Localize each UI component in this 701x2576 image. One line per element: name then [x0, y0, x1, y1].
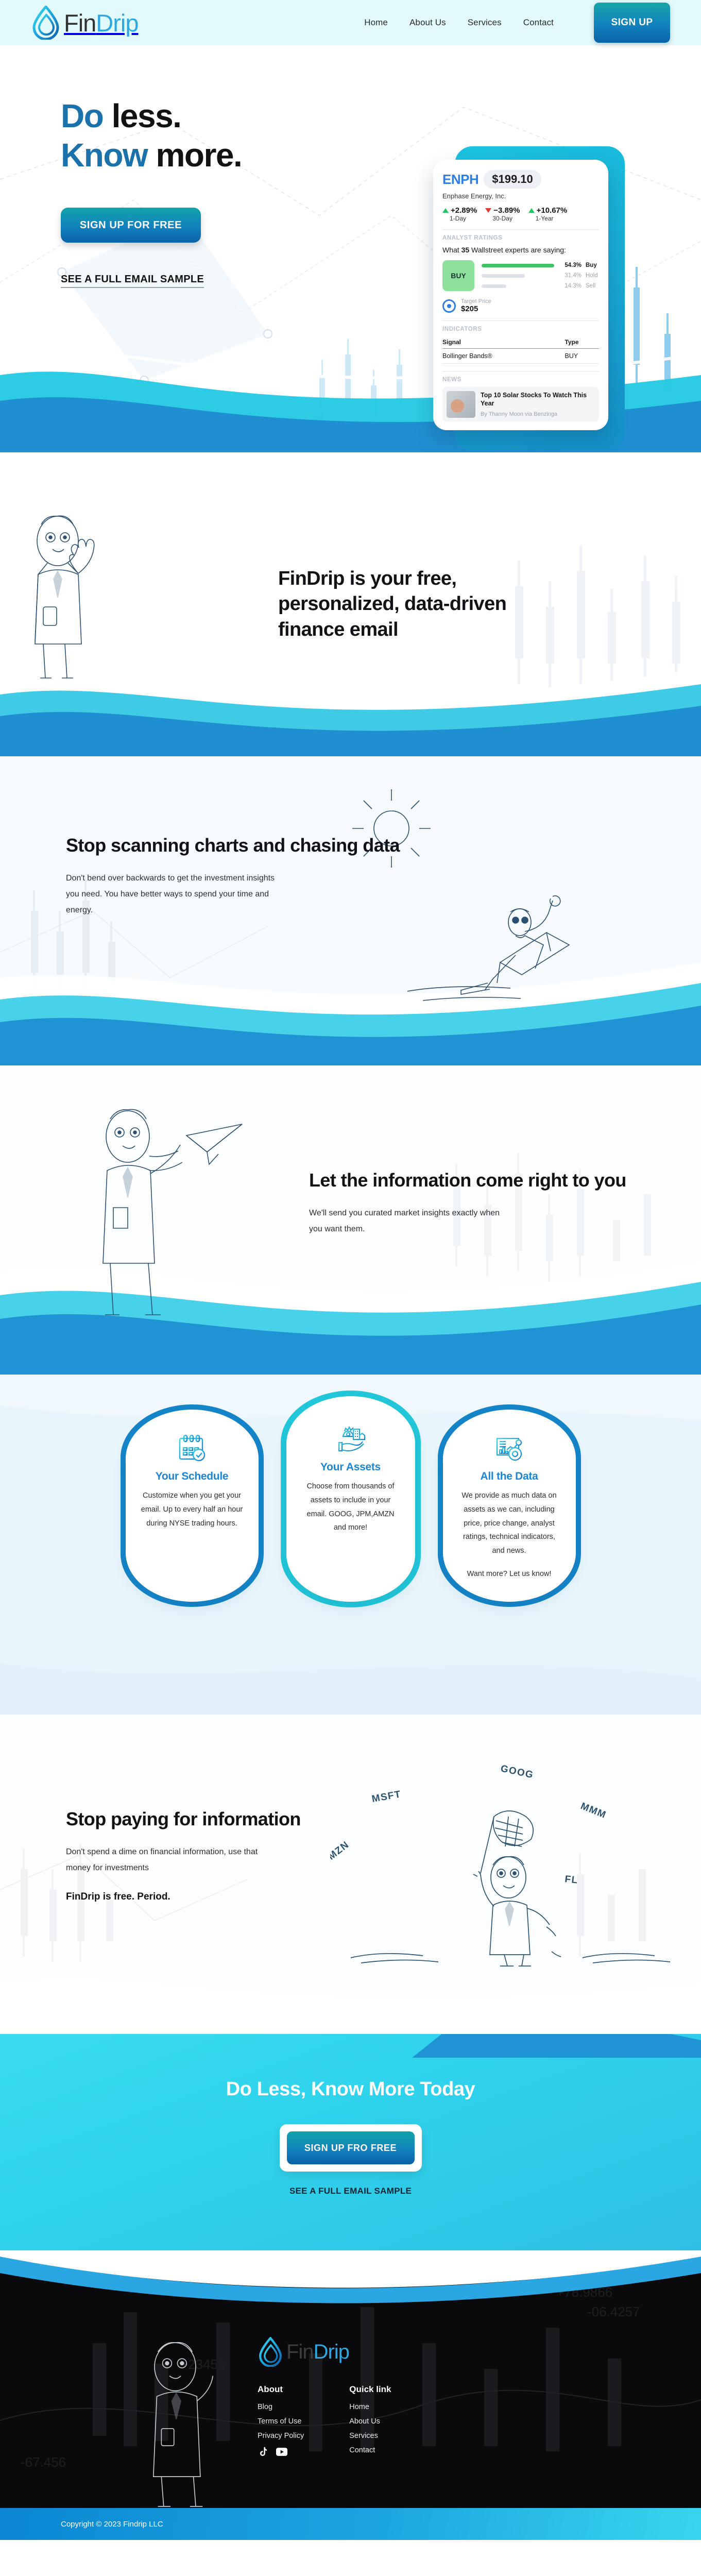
change-30-day: −3.89% 30-Day	[485, 206, 520, 222]
mascot-waving-illustration	[21, 509, 124, 679]
arrow-up-icon	[442, 208, 449, 213]
hero-title-line1-accent: Do	[61, 97, 103, 134]
analyst-count: 35	[461, 246, 470, 254]
footer-link-about-us[interactable]: About Us	[349, 2417, 391, 2426]
indicators-col-signal: Signal	[442, 336, 565, 349]
feature-card-title: Your Assets	[300, 1461, 402, 1473]
price-change-row: +2.89% 1-Day −3.89% 30-Day +10.67% 1-Yea…	[442, 206, 599, 222]
indicator-type: BUY	[565, 349, 599, 364]
footer-link-privacy-policy[interactable]: Privacy Policy	[258, 2432, 304, 2440]
hero-email-sample-link[interactable]: SEE A FULL EMAIL SAMPLE	[61, 274, 204, 288]
analyst-rating-body: BUY 54.3% Buy 31.4% Hold	[442, 260, 599, 291]
feature-card-your-schedule: Your Schedule Customize when you get you…	[126, 1410, 259, 1602]
footer-logo[interactable]: FinDrip	[258, 2337, 701, 2367]
mascot-footer-illustration	[134, 2337, 237, 2508]
consensus-badge: BUY	[442, 260, 474, 291]
logo-text-fin: Fin	[64, 9, 96, 37]
features-section: Your Schedule Customize when you get you…	[0, 1375, 701, 1715]
arrow-up-icon	[528, 208, 535, 213]
rating-bar-buy	[482, 264, 554, 267]
stock-detail-card: ENPH $199.10 Enphase Energy, Inc. +2.89%…	[433, 160, 608, 430]
rating-row-buy: 54.3% Buy	[482, 262, 599, 268]
indicator-signal: Bollinger Bands®	[442, 349, 565, 364]
hero-title-line2-dark: more.	[156, 137, 242, 174]
rating-pct-sell: 14.3%	[562, 283, 582, 289]
change-1-day-label: 1-Day	[450, 215, 477, 222]
rating-row-hold: 31.4% Hold	[482, 273, 599, 279]
indicators-col-type: Type	[565, 336, 599, 349]
company-name: Enphase Energy, Inc.	[442, 192, 599, 200]
table-row: Bollinger Bands® BUY	[442, 349, 599, 364]
footer-link-columns: About Blog Terms of Use Privacy Policy	[258, 2384, 701, 2461]
nav-item-about-us[interactable]: About Us	[409, 18, 446, 28]
change-1-year-value: +10.67%	[537, 206, 568, 215]
target-price-value: $205	[461, 304, 491, 313]
information-heading: Let the information come right to you	[309, 1168, 701, 1193]
change-1-day-value: +2.89%	[451, 206, 477, 215]
hero-title-line2-accent: Know	[61, 137, 147, 174]
feature-card-body-extra: Want more? Let us know!	[456, 1567, 562, 1581]
logo-home-link[interactable]: FinDrip	[31, 6, 138, 40]
indicators-heading: INDICATORS	[442, 326, 599, 332]
footer-column-quick-link: Quick link Home About Us Services Contac…	[349, 2384, 391, 2461]
hero-signup-button[interactable]: SIGN UP FOR FREE	[61, 208, 201, 243]
ticker-label-mmm: MMM	[579, 1801, 608, 1821]
nav-item-contact[interactable]: Contact	[523, 18, 554, 28]
nav-item-services[interactable]: Services	[468, 18, 502, 28]
information-content: Let the information come right to you We…	[0, 1065, 701, 1237]
change-1-day: +2.89% 1-Day	[442, 206, 477, 222]
rating-pct-buy: 54.3%	[562, 262, 582, 268]
copyright-text: Copyright © 2023 Findrip LLC	[61, 2520, 163, 2529]
main-navigation: Home About Us Services Contact SIGN UP	[364, 3, 670, 43]
rating-bar-hold	[482, 274, 525, 278]
mascot-net-catching-illustration: GOOG MSFT AMZN MMM FL	[330, 1725, 691, 1967]
site-footer: +78.9866-06.4257+23456-67.456	[0, 2250, 701, 2508]
hand-assets-icon	[300, 1424, 402, 1454]
divider	[442, 320, 599, 321]
ticker-label-msft: MSFT	[371, 1789, 402, 1805]
ticker-label-fl: FL	[564, 1874, 578, 1886]
hero-section: Do less. Know more. SIGN UP FOR FREE SEE…	[0, 45, 701, 452]
footer-column-heading: About	[258, 2384, 304, 2395]
dashboard-chart-icon	[456, 1433, 562, 1463]
footer-link-blog[interactable]: Blog	[258, 2403, 304, 2411]
information-section: Let the information come right to you We…	[0, 1065, 701, 1375]
tiktok-link[interactable]	[258, 2446, 269, 2458]
footer-link-terms-of-use[interactable]: Terms of Use	[258, 2417, 304, 2426]
ticker-label-goog: GOOG	[500, 1763, 535, 1781]
divider	[442, 229, 599, 230]
change-1-year: +10.67% 1-Year	[528, 206, 568, 222]
stop-paying-section: Stop paying for information Don't spend …	[0, 1715, 701, 2034]
rating-name-sell: Sell	[586, 283, 599, 289]
analyst-question-pre: What	[442, 246, 461, 254]
footer-link-home[interactable]: Home	[349, 2403, 391, 2411]
information-body: We'll send you curated market insights e…	[309, 1205, 515, 1237]
youtube-link[interactable]	[276, 2446, 287, 2458]
tiktok-icon	[258, 2446, 269, 2458]
scanning-body: Don't bend over backwards to get the inv…	[66, 870, 287, 919]
ticker-symbol: ENPH	[442, 172, 478, 188]
intro-heading: FinDrip is your free, personalized, data…	[278, 566, 567, 642]
analyst-ratings-heading: ANALYST RATINGS	[442, 235, 599, 241]
target-price-row: Target Price $205	[442, 298, 599, 313]
feature-card-body: Customize when you get your email. Up to…	[139, 1489, 245, 1530]
intro-content: FinDrip is your free, personalized, data…	[0, 452, 701, 756]
change-30-day-label: 30-Day	[492, 215, 520, 222]
youtube-icon	[276, 2446, 287, 2458]
target-icon	[442, 299, 456, 313]
footer-logo-text-fin: Fin	[286, 2341, 314, 2363]
ticker-price: $199.10	[484, 170, 541, 189]
ticker-label-amzn: AMZN	[330, 1839, 351, 1867]
arrow-down-icon	[485, 208, 491, 213]
feature-card-body: Choose from thousands of assets to inclu…	[300, 1480, 402, 1535]
cta-button-frame: SIGN UP FRO FREE	[280, 2124, 422, 2172]
landing-page: FinDrip Home About Us Services Contact S…	[0, 0, 701, 2540]
social-links	[258, 2446, 304, 2458]
hero-title-line1-dark: less.	[112, 97, 181, 134]
feature-card-body: We provide as much data on assets as we …	[456, 1489, 562, 1558]
feature-card-title: Your Schedule	[139, 1470, 245, 1483]
stock-card-mockup: ENPH $199.10 Enphase Energy, Inc. +2.89%…	[433, 146, 629, 417]
feature-card-your-assets: Your Assets Choose from thousands of ass…	[286, 1396, 415, 1602]
calendar-check-icon	[139, 1433, 245, 1463]
nav-item-home[interactable]: Home	[364, 18, 388, 28]
mascot-relaxing-illustration	[346, 854, 634, 1009]
cta-content: Do Less, Know More Today SIGN UP FRO FRE…	[0, 2034, 701, 2196]
feature-card-all-the-data: All the Data We provide as much data on …	[443, 1410, 576, 1602]
ticker-header: ENPH $199.10	[442, 170, 599, 189]
rating-row-sell: 14.3% Sell	[482, 283, 599, 289]
header-signup-button[interactable]: SIGN UP	[594, 3, 670, 43]
feature-cards: Your Schedule Customize when you get you…	[0, 1410, 701, 1602]
footer-logo-text-drip: Drip	[314, 2341, 349, 2363]
target-price-label: Target Price	[461, 298, 491, 304]
footer-column-heading: Quick link	[349, 2384, 391, 2395]
divider	[442, 371, 599, 371]
intro-section: FinDrip is your free, personalized, data…	[0, 452, 701, 756]
analyst-question-post: Wallstreet experts are saying:	[469, 246, 566, 254]
news-thumbnail	[447, 391, 475, 418]
cta-section: Do Less, Know More Today SIGN UP FRO FRE…	[0, 2034, 701, 2250]
cta-heading: Do Less, Know More Today	[0, 2078, 701, 2100]
rating-pct-hold: 31.4%	[562, 273, 582, 279]
analyst-question: What 35 Wallstreet experts are saying:	[442, 246, 599, 254]
copyright-bar: Copyright © 2023 Findrip LLC	[0, 2508, 701, 2540]
water-drop-logo-icon	[31, 6, 61, 40]
rating-bar-sell	[482, 284, 506, 288]
paying-body: Don't spend a dime on financial informat…	[66, 1844, 282, 1876]
stop-scanning-section: Stop scanning charts and chasing data Do…	[0, 756, 701, 1065]
indicators-table: Signal Type Bollinger Bands® BUY	[442, 336, 599, 364]
rating-bars: 54.3% Buy 31.4% Hold 14.3% Sell	[482, 260, 599, 289]
footer-column-about: About Blog Terms of Use Privacy Policy	[258, 2384, 304, 2461]
site-header: FinDrip Home About Us Services Contact S…	[0, 0, 701, 45]
logo-text-drip: Drip	[96, 9, 138, 37]
news-list-item[interactable]: Top 10 Solar Stocks To Watch This Year B…	[442, 387, 599, 422]
news-title: Top 10 Solar Stocks To Watch This Year	[481, 391, 595, 408]
change-1-year-label: 1-Year	[536, 215, 568, 222]
footer-content: FinDrip About Blog Terms of Use Privacy …	[0, 2250, 701, 2508]
news-heading: NEWS	[442, 377, 599, 383]
feature-card-title: All the Data	[456, 1470, 562, 1483]
cta-signup-button[interactable]: SIGN UP FRO FREE	[287, 2131, 415, 2164]
footer-link-services[interactable]: Services	[349, 2432, 391, 2440]
rating-name-hold: Hold	[586, 273, 599, 279]
cta-email-sample-link[interactable]: SEE A FULL EMAIL SAMPLE	[0, 2186, 701, 2196]
rating-name-buy: Buy	[586, 262, 599, 268]
footer-main-column: FinDrip About Blog Terms of Use Privacy …	[258, 2337, 701, 2508]
change-30-day-value: −3.89%	[493, 206, 520, 215]
news-byline: By Thanny Moon via Benzinga	[481, 411, 595, 417]
water-drop-logo-icon	[258, 2337, 283, 2367]
footer-link-contact[interactable]: Contact	[349, 2446, 391, 2454]
